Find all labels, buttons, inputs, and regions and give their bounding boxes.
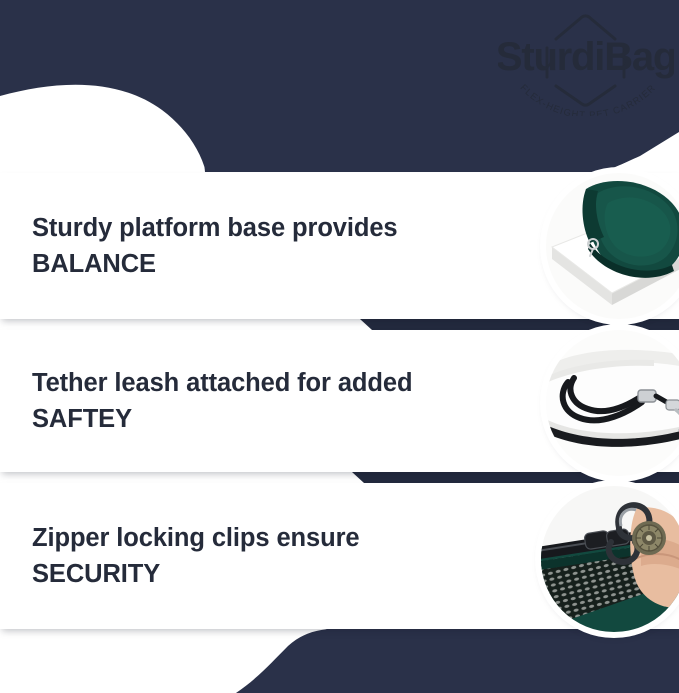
navy-shape-bottom-main [243,626,679,693]
logo-tagline: FLEX-HEIGHT PET CARRIER [518,82,657,116]
logo-wordmark: SturdiBag [498,35,674,79]
sturdibag-logo: SturdiBag FLEX-HEIGHT PET CARRIER [498,8,674,116]
feature-text-saftey: Tether leash attached for added SAFTEY [32,365,492,437]
feature-photo-balance [546,173,679,319]
combination-lock-icon [632,521,666,555]
feature-text-balance: Sturdy platform base provides BALANCE [32,210,492,282]
feature-text-security: Zipper locking clips ensure SECURITY [32,520,492,592]
navy-shape-middle-upper [360,319,679,330]
logo-tagline-path: FLEX-HEIGHT PET CARRIER [518,82,657,116]
photo-balance-artwork [546,173,679,319]
feature-photo-saftey [546,330,679,476]
infographic-canvas: SturdiBag FLEX-HEIGHT PET CARRIER Sturdy… [0,0,679,693]
photo-saftey-artwork [546,330,679,476]
photo-security-artwork [541,486,679,632]
feature-photo-security [541,486,679,632]
logo-artwork: SturdiBag FLEX-HEIGHT PET CARRIER [498,8,674,116]
